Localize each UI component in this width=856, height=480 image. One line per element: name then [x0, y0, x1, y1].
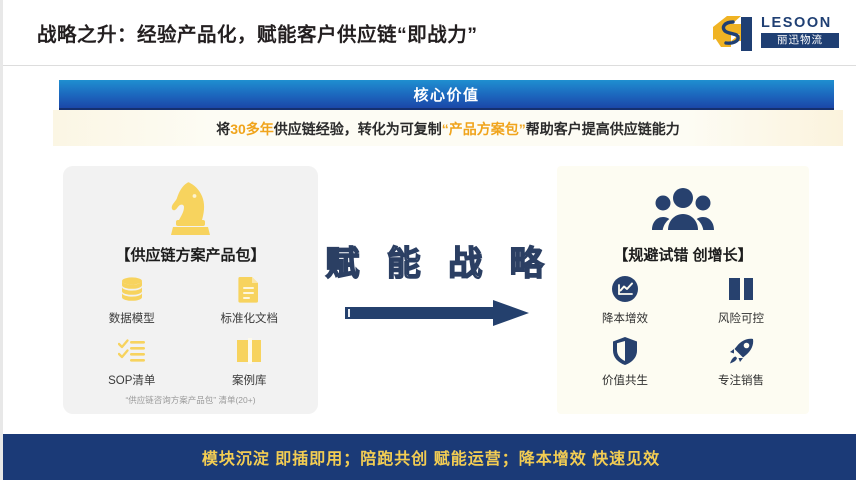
list-item: 专注销售	[683, 336, 799, 394]
list-item-label: 价值共生	[602, 372, 648, 388]
lesoon-s-logo-icon	[711, 14, 755, 54]
left-card: 【供应链方案产品包】 数据模型	[63, 166, 318, 414]
list-item: 风险可控	[683, 274, 799, 332]
open-book-icon	[235, 336, 263, 366]
open-book-icon	[727, 274, 755, 304]
center-headline: 赋 能 战 略	[321, 236, 557, 285]
subtitle-highlight-package: “产品方案包”	[442, 121, 526, 137]
slide-header: 战略之升：经验产品化，赋能客户供应链“即战力” LESOON 丽迅物流	[3, 0, 856, 66]
list-item-label: 案例库	[232, 372, 267, 388]
list-item: 案例库	[191, 336, 309, 394]
slide-footer: 模块沉淀 即插即用；陪跑共创 赋能运营；降本增效 快速见效	[3, 434, 856, 480]
core-value-subtitle: 将30多年供应链经验，转化为可复制“产品方案包”帮助客户提高供应链能力	[53, 119, 843, 139]
right-card-title: 【规避试错 创增长】	[557, 244, 809, 265]
list-item-label: 降本增效	[602, 310, 648, 326]
brand-logo: LESOON 丽迅物流	[707, 12, 839, 56]
left-card-items: 数据模型 标准化文档	[73, 274, 308, 394]
growth-chart-circle-icon	[611, 274, 639, 304]
left-card-footnote: “供应链咨询方案产品包” 清单(20+)	[63, 394, 318, 406]
subtitle-middle: 供应链经验，转化为可复制	[274, 121, 442, 137]
subtitle-prefix: 将	[216, 121, 230, 137]
list-item-label: 标准化文档	[221, 310, 279, 326]
list-item: 标准化文档	[191, 274, 309, 332]
list-item-label: 专注销售	[718, 372, 764, 388]
right-card-items: 降本增效 风险可控	[567, 274, 799, 394]
document-icon	[237, 274, 261, 304]
logo-wordmark: LESOON	[761, 15, 839, 32]
list-item: 数据模型	[73, 274, 191, 332]
chess-knight-icon	[63, 178, 318, 240]
header-divider	[3, 65, 856, 66]
core-value-subtitle-band: 将30多年供应链经验，转化为可复制“产品方案包”帮助客户提高供应链能力	[53, 110, 843, 146]
subtitle-highlight-years: 30多年	[230, 121, 274, 137]
slide-root: 战略之升：经验产品化，赋能客户供应链“即战力” LESOON 丽迅物流 核心价值	[0, 0, 856, 480]
database-icon	[118, 274, 146, 304]
subtitle-suffix: 帮助客户提高供应链能力	[526, 121, 680, 137]
logo-chinese-name: 丽迅物流	[761, 33, 839, 48]
core-value-label: 核心价值	[59, 84, 834, 105]
core-value-band: 核心价值	[59, 80, 834, 110]
list-item-label: SOP清单	[108, 372, 155, 388]
center-callout: 赋 能 战 略	[321, 236, 557, 346]
rocket-icon	[727, 336, 755, 366]
page-title: 战略之升：经验产品化，赋能客户供应链“即战力”	[37, 18, 478, 47]
logo-text-block: LESOON 丽迅物流	[761, 15, 839, 48]
people-group-icon	[557, 178, 809, 240]
list-item-label: 风险可控	[718, 310, 764, 326]
right-card: 【规避试错 创增长】 降本增效	[557, 166, 809, 414]
list-item: 降本增效	[567, 274, 683, 332]
shield-icon	[612, 336, 638, 366]
checklist-icon	[118, 336, 146, 366]
list-item: 价值共生	[567, 336, 683, 394]
list-item: SOP清单	[73, 336, 191, 394]
right-arrow-icon	[343, 298, 533, 328]
footer-text: 模块沉淀 即插即用；陪跑共创 赋能运营；降本增效 快速见效	[202, 445, 660, 469]
left-card-title: 【供应链方案产品包】	[63, 244, 318, 265]
list-item-label: 数据模型	[109, 310, 155, 326]
